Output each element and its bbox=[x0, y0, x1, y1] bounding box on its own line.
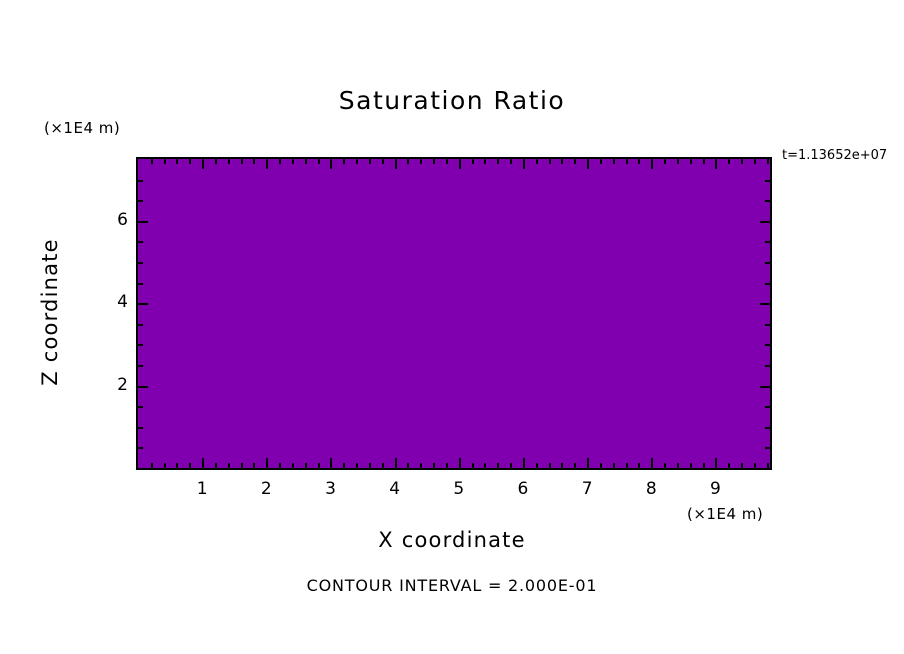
y-tick-label: 4 bbox=[98, 292, 128, 312]
x-minor-tick-top bbox=[176, 159, 178, 164]
x-minor-tick-top bbox=[292, 159, 294, 164]
x-minor-tick-top bbox=[279, 159, 281, 164]
x-minor-tick bbox=[664, 463, 666, 468]
x-minor-tick bbox=[497, 463, 499, 468]
x-tick-label: 5 bbox=[439, 479, 479, 499]
x-tick-label: 8 bbox=[631, 479, 671, 499]
y-minor-tick-right bbox=[765, 283, 770, 285]
contour-interval-caption: CONTOUR INTERVAL = 2.000E-01 bbox=[0, 576, 904, 595]
x-tick-label: 2 bbox=[246, 479, 286, 499]
colorbar[interactable] bbox=[783, 203, 807, 517]
y-minor-tick bbox=[138, 180, 143, 182]
x-minor-tick bbox=[703, 463, 705, 468]
x-minor-tick-top bbox=[228, 159, 230, 164]
x-minor-tick-top bbox=[407, 159, 409, 164]
x-minor-tick bbox=[241, 463, 243, 468]
x-axis-unit-label: (×1E4 m) bbox=[687, 505, 763, 523]
x-minor-tick-top bbox=[189, 159, 191, 164]
x-major-tick bbox=[202, 458, 204, 468]
x-tick-label: 6 bbox=[503, 479, 543, 499]
y-minor-tick-right bbox=[765, 447, 770, 449]
x-major-tick-top bbox=[266, 159, 268, 169]
y-major-tick-right bbox=[760, 386, 770, 388]
x-minor-tick-top bbox=[754, 159, 756, 164]
y-axis-title: Z coordinate bbox=[38, 202, 62, 422]
x-minor-tick bbox=[176, 463, 178, 468]
x-minor-tick bbox=[305, 463, 307, 468]
x-minor-tick-top bbox=[536, 159, 538, 164]
x-minor-tick-top bbox=[241, 159, 243, 164]
x-minor-tick bbox=[638, 463, 640, 468]
x-minor-tick-top bbox=[510, 159, 512, 164]
x-tick-label: 1 bbox=[182, 479, 222, 499]
x-minor-tick bbox=[253, 463, 255, 468]
x-minor-tick-top bbox=[215, 159, 217, 164]
x-minor-tick bbox=[574, 463, 576, 468]
colorbar-gradient bbox=[783, 203, 807, 517]
y-minor-tick-right bbox=[765, 241, 770, 243]
x-minor-tick-top bbox=[561, 159, 563, 164]
x-minor-tick bbox=[279, 463, 281, 468]
x-minor-tick-top bbox=[420, 159, 422, 164]
y-minor-tick bbox=[138, 241, 143, 243]
x-minor-tick-top bbox=[356, 159, 358, 164]
x-tick-label: 9 bbox=[695, 479, 735, 499]
saturation-ratio-field bbox=[138, 159, 770, 468]
x-minor-tick bbox=[369, 463, 371, 468]
x-axis-title: X coordinate bbox=[0, 528, 904, 552]
x-minor-tick bbox=[613, 463, 615, 468]
x-minor-tick-top bbox=[164, 159, 166, 164]
x-major-tick-top bbox=[202, 159, 204, 169]
y-minor-tick bbox=[138, 283, 143, 285]
x-major-tick bbox=[523, 458, 525, 468]
x-major-tick-top bbox=[587, 159, 589, 169]
x-minor-tick-top bbox=[664, 159, 666, 164]
contour-plot-area[interactable] bbox=[136, 157, 772, 470]
x-minor-tick-top bbox=[446, 159, 448, 164]
x-major-tick bbox=[651, 458, 653, 468]
x-major-tick-top bbox=[395, 159, 397, 169]
x-minor-tick-top bbox=[433, 159, 435, 164]
x-minor-tick bbox=[754, 463, 756, 468]
x-minor-tick bbox=[472, 463, 474, 468]
x-minor-tick bbox=[420, 463, 422, 468]
y-major-tick bbox=[138, 386, 148, 388]
x-minor-tick bbox=[741, 463, 743, 468]
x-minor-tick bbox=[561, 463, 563, 468]
x-tick-label: 3 bbox=[310, 479, 350, 499]
x-minor-tick-top bbox=[472, 159, 474, 164]
x-minor-tick bbox=[510, 463, 512, 468]
y-minor-tick-right bbox=[765, 324, 770, 326]
x-minor-tick bbox=[228, 463, 230, 468]
x-minor-tick bbox=[356, 463, 358, 468]
x-major-tick bbox=[330, 458, 332, 468]
y-minor-tick-right bbox=[765, 365, 770, 367]
x-minor-tick-top bbox=[549, 159, 551, 164]
x-minor-tick bbox=[318, 463, 320, 468]
x-minor-tick bbox=[343, 463, 345, 468]
x-minor-tick bbox=[690, 463, 692, 468]
x-minor-tick-top bbox=[741, 159, 743, 164]
x-minor-tick-top bbox=[318, 159, 320, 164]
x-minor-tick bbox=[189, 463, 191, 468]
y-minor-tick-right bbox=[765, 200, 770, 202]
x-minor-tick-top bbox=[151, 159, 153, 164]
x-minor-tick-top bbox=[613, 159, 615, 164]
y-minor-tick bbox=[138, 324, 143, 326]
y-minor-tick-right bbox=[765, 344, 770, 346]
x-major-tick-top bbox=[523, 159, 525, 169]
y-minor-tick bbox=[138, 365, 143, 367]
x-tick-label: 4 bbox=[375, 479, 415, 499]
x-minor-tick-top bbox=[497, 159, 499, 164]
x-major-tick-top bbox=[330, 159, 332, 169]
y-axis-unit-label: (×1E4 m) bbox=[44, 119, 120, 137]
x-minor-tick-top bbox=[638, 159, 640, 164]
x-minor-tick-top bbox=[767, 159, 769, 164]
y-minor-tick-right bbox=[765, 406, 770, 408]
x-tick-label: 7 bbox=[567, 479, 607, 499]
y-minor-tick bbox=[138, 447, 143, 449]
y-tick-label: 2 bbox=[98, 375, 128, 395]
y-minor-tick-right bbox=[765, 180, 770, 182]
x-major-tick-top bbox=[715, 159, 717, 169]
y-minor-tick bbox=[138, 427, 143, 429]
x-minor-tick-top bbox=[253, 159, 255, 164]
x-minor-tick-top bbox=[677, 159, 679, 164]
x-minor-tick bbox=[151, 463, 153, 468]
x-major-tick bbox=[395, 458, 397, 468]
x-minor-tick bbox=[767, 463, 769, 468]
x-minor-tick bbox=[292, 463, 294, 468]
x-minor-tick bbox=[164, 463, 166, 468]
x-minor-tick bbox=[677, 463, 679, 468]
x-minor-tick bbox=[626, 463, 628, 468]
y-major-tick bbox=[138, 221, 148, 223]
y-major-tick-right bbox=[760, 303, 770, 305]
x-minor-tick bbox=[215, 463, 217, 468]
x-minor-tick-top bbox=[728, 159, 730, 164]
y-minor-tick bbox=[138, 200, 143, 202]
x-major-tick bbox=[459, 458, 461, 468]
x-major-tick bbox=[587, 458, 589, 468]
x-minor-tick-top bbox=[574, 159, 576, 164]
x-minor-tick-top bbox=[703, 159, 705, 164]
x-minor-tick bbox=[407, 463, 409, 468]
y-major-tick-right bbox=[760, 221, 770, 223]
x-minor-tick bbox=[728, 463, 730, 468]
x-major-tick bbox=[715, 458, 717, 468]
x-minor-tick-top bbox=[626, 159, 628, 164]
x-minor-tick-top bbox=[369, 159, 371, 164]
y-minor-tick-right bbox=[765, 262, 770, 264]
x-major-tick-top bbox=[459, 159, 461, 169]
x-minor-tick bbox=[433, 463, 435, 468]
y-minor-tick bbox=[138, 406, 143, 408]
y-minor-tick bbox=[138, 344, 143, 346]
x-minor-tick-top bbox=[690, 159, 692, 164]
y-minor-tick bbox=[138, 262, 143, 264]
x-minor-tick bbox=[536, 463, 538, 468]
x-minor-tick-top bbox=[343, 159, 345, 164]
x-minor-tick-top bbox=[382, 159, 384, 164]
x-major-tick bbox=[266, 458, 268, 468]
x-major-tick-top bbox=[651, 159, 653, 169]
x-minor-tick-top bbox=[305, 159, 307, 164]
x-minor-tick-top bbox=[484, 159, 486, 164]
x-minor-tick bbox=[382, 463, 384, 468]
chart-title: Saturation Ratio bbox=[0, 86, 904, 115]
y-tick-label: 6 bbox=[98, 210, 128, 230]
x-minor-tick-top bbox=[600, 159, 602, 164]
x-minor-tick bbox=[446, 463, 448, 468]
x-minor-tick bbox=[600, 463, 602, 468]
x-minor-tick bbox=[484, 463, 486, 468]
time-annotation: t=1.13652e+07 bbox=[782, 148, 887, 163]
y-major-tick bbox=[138, 303, 148, 305]
y-minor-tick-right bbox=[765, 427, 770, 429]
x-minor-tick bbox=[549, 463, 551, 468]
